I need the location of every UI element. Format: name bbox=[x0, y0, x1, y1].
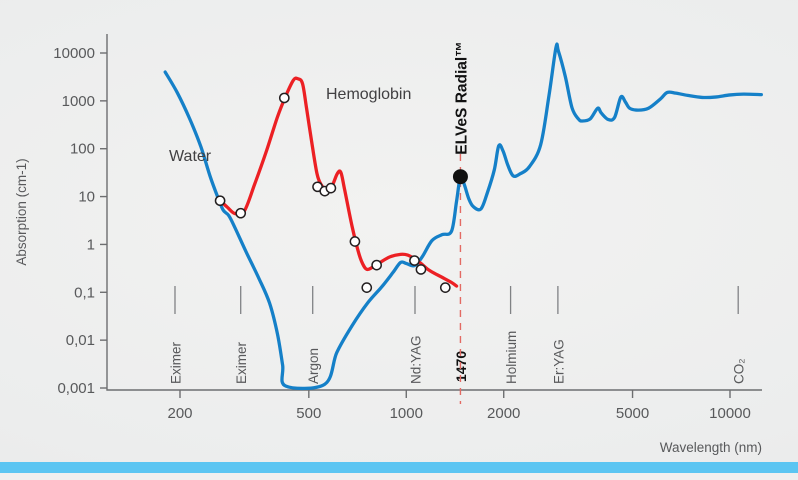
data-point-marker bbox=[362, 283, 371, 292]
y-tick-label: 0,001 bbox=[57, 380, 95, 397]
laser-type-label: Eximer bbox=[168, 341, 183, 384]
x-tick-label: 200 bbox=[167, 405, 192, 422]
laser-type-label: CO₂ bbox=[732, 359, 747, 385]
elves-radial-point-marker bbox=[453, 170, 467, 184]
x-tick-label: 1000 bbox=[390, 405, 423, 422]
laser-type-label: Argon bbox=[306, 348, 321, 384]
laser-type-label: Er:YAG bbox=[551, 339, 566, 384]
x-tick-label: 2000 bbox=[487, 405, 520, 422]
laser-type-label: Eximer bbox=[234, 341, 249, 384]
x-tick-label: 5000 bbox=[616, 405, 649, 422]
laser-type-label: Nd:YAG bbox=[408, 335, 423, 384]
y-axis-title: Absorption (cm-1) bbox=[14, 158, 29, 265]
y-tick-label: 100 bbox=[70, 141, 95, 158]
y-tick-label: 0,01 bbox=[66, 332, 95, 349]
data-point-marker bbox=[441, 283, 450, 292]
accent-bar bbox=[0, 462, 798, 473]
x-axis-title: Wavelength (nm) bbox=[660, 440, 762, 455]
data-point-marker bbox=[350, 237, 359, 246]
x-tick-label: 10000 bbox=[709, 405, 751, 422]
axis-lines bbox=[107, 34, 762, 390]
data-point-marker bbox=[416, 265, 425, 274]
y-tick-label: 10000 bbox=[53, 45, 95, 62]
footer-strip bbox=[0, 473, 798, 480]
curve-hemoglobin bbox=[218, 78, 457, 286]
absorption-spectrum-chart: 1000010001001010,10,010,0012005001000200… bbox=[0, 0, 798, 455]
laser-type-label: Holmium bbox=[504, 331, 519, 384]
chart-svg: 1000010001001010,10,010,0012005001000200… bbox=[0, 0, 798, 455]
y-tick-label: 0,1 bbox=[74, 284, 95, 301]
series-label-water: Water bbox=[169, 148, 212, 165]
data-point-marker bbox=[280, 93, 289, 102]
data-point-marker bbox=[215, 196, 224, 205]
y-tick-label: 1000 bbox=[62, 93, 95, 110]
y-tick-label: 10 bbox=[78, 189, 95, 206]
data-point-marker bbox=[410, 256, 419, 265]
elves-radial-label: ELVeS Radial™ bbox=[453, 41, 470, 154]
series-label-hemoglobin: Hemoglobin bbox=[326, 86, 411, 103]
data-point-marker bbox=[326, 184, 335, 193]
x-tick-label: 500 bbox=[296, 405, 321, 422]
y-tick-label: 1 bbox=[87, 236, 95, 253]
data-point-marker bbox=[372, 260, 381, 269]
data-point-marker bbox=[236, 209, 245, 218]
